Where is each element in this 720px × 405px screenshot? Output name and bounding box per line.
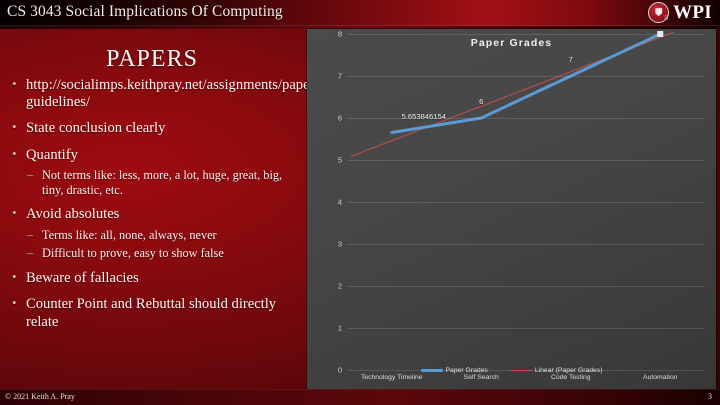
bullet-item: State conclusion clearly bbox=[8, 120, 298, 137]
chart-data-label: 7 bbox=[569, 55, 573, 64]
legend-label: Linear (Paper Grades) bbox=[535, 367, 603, 374]
chart-legend-item[interactable]: Linear (Paper Grades) bbox=[510, 367, 603, 374]
chart-plot-area: 012345678Technology TimelineSelf SearchC… bbox=[347, 34, 705, 370]
bullet-item: Avoid absolutesTerms like: all, none, al… bbox=[8, 206, 298, 261]
y-axis-tick-label: 3 bbox=[338, 240, 342, 249]
presentation-slide: CS 3043 Social Implications Of Computing… bbox=[0, 0, 720, 405]
bullet-text: Avoid absolutes bbox=[26, 206, 298, 223]
chart-gridline: 7 bbox=[347, 76, 705, 77]
chart-gridline: 5 bbox=[347, 160, 705, 161]
sub-bullet-item: Not terms like: less, more, a lot, huge,… bbox=[26, 168, 298, 198]
chart-gridline: 1 bbox=[347, 328, 705, 329]
x-axis-tick-label: Self Search bbox=[464, 374, 499, 381]
slide-footer: © 2021 Keith A. Pray 3 bbox=[0, 389, 720, 405]
legend-label: Paper Grades bbox=[446, 367, 488, 374]
y-axis-tick-label: 8 bbox=[338, 30, 342, 39]
chart-gridline: 3 bbox=[347, 244, 705, 245]
page-title: PAPERS bbox=[0, 46, 304, 73]
legend-swatch-icon bbox=[421, 369, 443, 372]
y-axis-tick-label: 4 bbox=[338, 198, 342, 207]
slide-title-bar: CS 3043 Social Implications Of Computing… bbox=[0, 0, 720, 26]
chart-gridline: 2 bbox=[347, 286, 705, 287]
bullet-text: http://socialimps.keithpray.net/assignme… bbox=[26, 77, 298, 111]
y-axis-tick-label: 7 bbox=[338, 72, 342, 81]
slide-number: 3 bbox=[708, 392, 712, 401]
x-axis-tick-label: Code Testing bbox=[551, 374, 591, 381]
y-axis-tick-label: 1 bbox=[338, 324, 342, 333]
wpi-logo-text: WPI bbox=[673, 3, 712, 23]
bullet-text: Counter Point and Rebuttal should direct… bbox=[26, 296, 298, 330]
course-title: CS 3043 Social Implications Of Computing bbox=[7, 3, 283, 21]
y-axis-tick-label: 5 bbox=[338, 156, 342, 165]
wpi-logo: WPI bbox=[648, 2, 712, 23]
bullet-item: Counter Point and Rebuttal should direct… bbox=[8, 296, 298, 330]
chart-gridline: 4 bbox=[347, 202, 705, 203]
bullet-item: Beware of fallacies bbox=[8, 270, 298, 287]
chart-data-label: 5.653846154 bbox=[402, 112, 446, 121]
chart-data-label: 8 bbox=[664, 13, 668, 22]
x-axis-tick-label: Technology Timeline bbox=[361, 374, 423, 381]
sub-bullet-list: Not terms like: less, more, a lot, huge,… bbox=[26, 168, 298, 198]
sub-bullet-item: Difficult to prove, easy to show false bbox=[26, 246, 298, 261]
bullet-text: State conclusion clearly bbox=[26, 120, 298, 137]
bullet-list: http://socialimps.keithpray.net/assignme… bbox=[0, 77, 304, 331]
sub-bullet-list: Terms like: all, none, always, neverDiff… bbox=[26, 228, 298, 262]
paper-grades-chart[interactable]: Paper Grades 012345678Technology Timelin… bbox=[307, 29, 716, 390]
bullet-text: Beware of fallacies bbox=[26, 270, 298, 287]
chart-data-label: 6 bbox=[479, 97, 483, 106]
chart-legend-item[interactable]: Paper Grades bbox=[421, 367, 488, 374]
sub-bullet-item: Terms like: all, none, always, never bbox=[26, 228, 298, 243]
y-axis-tick-label: 6 bbox=[338, 114, 342, 123]
copyright-text: © 2021 Keith A. Pray bbox=[5, 392, 75, 401]
legend-swatch-icon bbox=[510, 370, 532, 371]
bullet-item: QuantifyNot terms like: less, more, a lo… bbox=[8, 147, 298, 198]
x-axis-tick-label: Automation bbox=[643, 374, 677, 381]
chart-gridline: 8 bbox=[347, 34, 705, 35]
chart-legend: Paper GradesLinear (Paper Grades) bbox=[307, 367, 716, 374]
bullet-text: Quantify bbox=[26, 147, 298, 164]
bullet-item: http://socialimps.keithpray.net/assignme… bbox=[8, 77, 298, 111]
slide-content-left: PAPERS http://socialimps.keithpray.net/a… bbox=[0, 30, 304, 385]
y-axis-tick-label: 2 bbox=[338, 282, 342, 291]
